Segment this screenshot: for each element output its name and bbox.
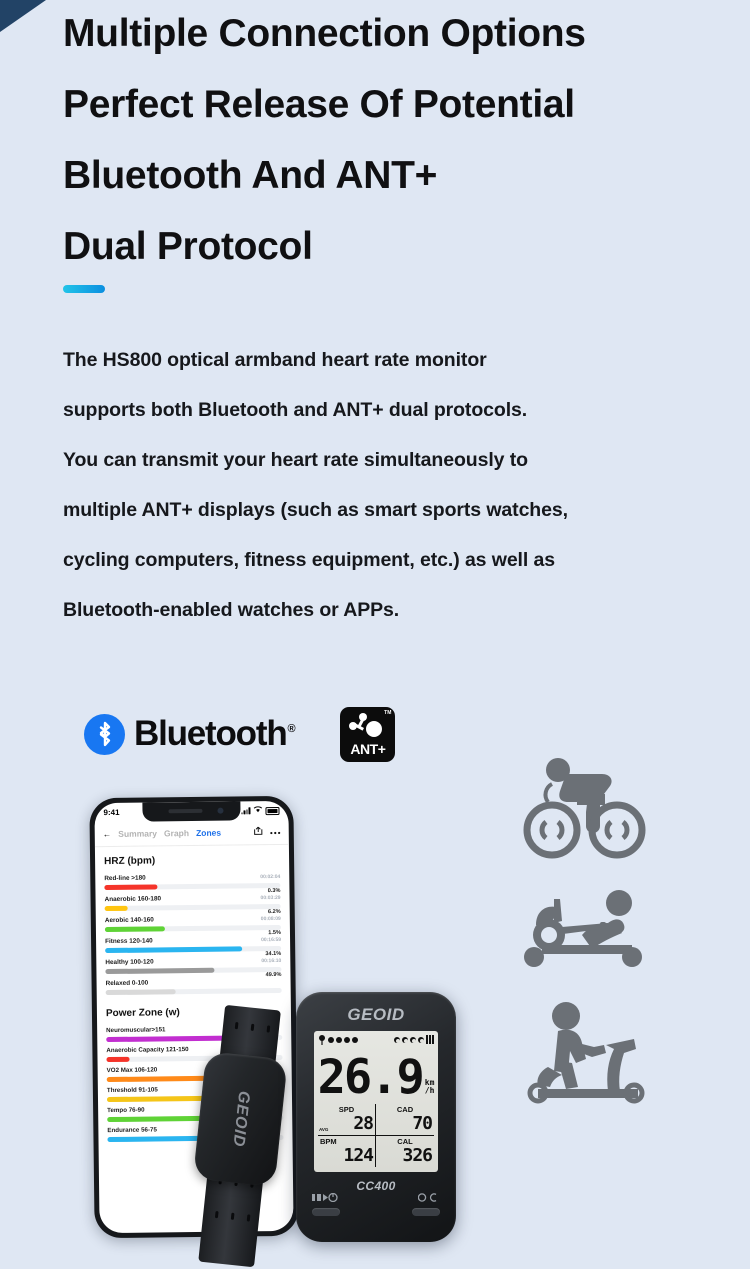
zone-label: Relaxed 0-100 xyxy=(106,980,149,988)
metric-bpm: BPM 124 xyxy=(318,1136,376,1167)
cyclo-button-left[interactable] xyxy=(312,1208,340,1216)
hrz-zone-list: Red-line >18000:02:04 0.3% Anaerobic 160… xyxy=(95,871,291,999)
corner-decoration xyxy=(0,0,46,32)
phone-notch xyxy=(142,801,240,821)
registered-mark: ® xyxy=(288,723,295,735)
zone-row: Fitness 120-14000:16:59 34.1% xyxy=(96,934,290,957)
metric-cad: CAD 70 xyxy=(376,1104,434,1136)
more-options-icon[interactable] xyxy=(270,826,281,836)
tab-summary[interactable]: Summary xyxy=(118,828,157,838)
metric-value: 326 xyxy=(378,1146,432,1166)
zone-row: Healthy 100-12000:16:10 49.9% xyxy=(96,955,290,978)
tab-graph[interactable]: Graph xyxy=(164,828,189,838)
phone-nav-bar: ← Summary Graph Zones xyxy=(95,820,289,847)
antplus-wordmark: ANT+ xyxy=(340,741,395,757)
body-line-5: cycling computers, fitness equipment, et… xyxy=(63,535,739,585)
status-indicators xyxy=(241,806,279,815)
body-line-1: The HS800 optical armband heart rate mon… xyxy=(63,335,739,385)
cyclo-button-icons xyxy=(296,1193,456,1204)
headline-line-3: Bluetooth And ANT+ xyxy=(63,140,743,211)
share-icon[interactable] xyxy=(254,826,263,837)
body-line-2: supports both Bluetooth and ANT+ dual pr… xyxy=(63,385,739,435)
cyclo-lcd-screen: 26.9 km /h SPD 28 AVG CAD 70 BPM 124 CAL xyxy=(314,1031,438,1172)
lcd-status-icons xyxy=(318,1034,434,1045)
wifi-icon xyxy=(253,806,262,815)
treadmill-icon xyxy=(522,1001,702,1111)
page-scroll-icons xyxy=(418,1193,440,1204)
tab-zones[interactable]: Zones xyxy=(196,827,221,837)
lap-power-icons xyxy=(312,1193,338,1204)
speed-value: 26.9 xyxy=(318,1056,423,1100)
speed-unit-bottom: /h xyxy=(425,1086,435,1095)
front-camera xyxy=(217,808,223,814)
metric-cal: CAL 326 xyxy=(376,1136,434,1167)
body-line-6: Bluetooth-enabled watches or APPs. xyxy=(63,585,739,635)
zone-label: Fitness 120-140 xyxy=(105,937,153,945)
zone-duration: 00:02:04 xyxy=(260,874,280,880)
speaker-grill xyxy=(168,809,202,813)
metric-spd: SPD 28 AVG xyxy=(318,1104,376,1136)
cyclo-buttons xyxy=(296,1204,456,1216)
zone-row: Red-line >18000:02:04 0.3% xyxy=(95,871,289,894)
armband-sensor-pod: GEOID xyxy=(193,1051,288,1187)
sensor-icon-2 xyxy=(402,1037,408,1043)
cycling-icon xyxy=(522,752,702,867)
cycling-computer: GEOID 26.9 km / xyxy=(296,992,456,1242)
activity-icon-list xyxy=(522,752,702,1133)
body-line-4: multiple ANT+ displays (such as smart sp… xyxy=(63,485,739,535)
zone-row: Relaxed 0-100 xyxy=(97,976,291,999)
status-time: 9:41 xyxy=(103,808,119,817)
page-title: Multiple Connection Options Perfect Rele… xyxy=(63,0,743,282)
headline-line-4: Dual Protocol xyxy=(63,211,743,282)
metric-sublabel: AVG xyxy=(319,1127,328,1132)
lcd-battery-icon xyxy=(426,1035,434,1044)
bluetooth-logo: Bluetooth® xyxy=(84,714,294,755)
headline-line-1: Multiple Connection Options xyxy=(63,0,743,69)
cyclo-brand-label: GEOID xyxy=(296,992,456,1025)
headline-line-2: Perfect Release Of Potential xyxy=(63,69,743,140)
sensor-icon-1 xyxy=(394,1037,400,1043)
bluetooth-word-text: Bluetooth xyxy=(134,714,287,753)
speed-display: 26.9 km /h xyxy=(318,1046,434,1100)
zone-row: Aerobic 140-16000:08:09 1.5% xyxy=(96,913,290,936)
play-status-icon xyxy=(336,1037,342,1043)
back-arrow-icon[interactable]: ← xyxy=(103,828,112,838)
battery-icon xyxy=(265,806,279,814)
antplus-logo: TM ANT+ xyxy=(340,707,395,762)
zone-label: Red-line >180 xyxy=(104,875,145,883)
sensor-icon-3 xyxy=(410,1037,416,1043)
zone-label: Healthy 100-120 xyxy=(105,958,153,966)
signal-icon xyxy=(241,807,250,814)
zone-duration: 00:16:10 xyxy=(261,958,281,964)
body-paragraph: The HS800 optical armband heart rate mon… xyxy=(63,335,739,635)
zone-duration: 00:08:09 xyxy=(261,916,281,922)
bluetooth-wordmark: Bluetooth® xyxy=(134,714,294,754)
sensor-icon-4 xyxy=(418,1037,424,1043)
zone-duration: 00:16:59 xyxy=(261,937,281,943)
record-status-icon xyxy=(344,1037,350,1043)
cyclo-button-right[interactable] xyxy=(412,1208,440,1216)
satellite-icon xyxy=(318,1030,326,1049)
bluetooth-icon xyxy=(84,714,125,755)
zone-label: Anaerobic 160-180 xyxy=(105,895,162,903)
metric-grid: SPD 28 AVG CAD 70 BPM 124 CAL 326 xyxy=(318,1104,434,1167)
armband-brand-label: GEOID xyxy=(228,1090,252,1148)
zone-duration: 00:03:29 xyxy=(261,895,281,901)
metric-value: 70 xyxy=(378,1114,432,1134)
cyclo-model-label: CC400 xyxy=(296,1179,456,1193)
antplus-node-icon xyxy=(349,713,385,744)
zone-label: Aerobic 140-160 xyxy=(105,916,154,924)
zone-row: Anaerobic 160-18000:03:29 6.2% xyxy=(95,892,289,915)
rowing-machine-icon xyxy=(522,889,702,979)
speed-unit: km /h xyxy=(425,1079,435,1095)
body-line-3: You can transmit your heart rate simulta… xyxy=(63,435,739,485)
accent-underline xyxy=(63,285,105,293)
pause-status-icon xyxy=(352,1037,358,1043)
metric-value: 124 xyxy=(320,1146,373,1166)
hrz-section-title: HRZ (bpm) xyxy=(95,845,289,873)
protocol-logos: Bluetooth® TM ANT+ xyxy=(84,703,395,765)
bluetooth-status-icon xyxy=(328,1037,334,1043)
